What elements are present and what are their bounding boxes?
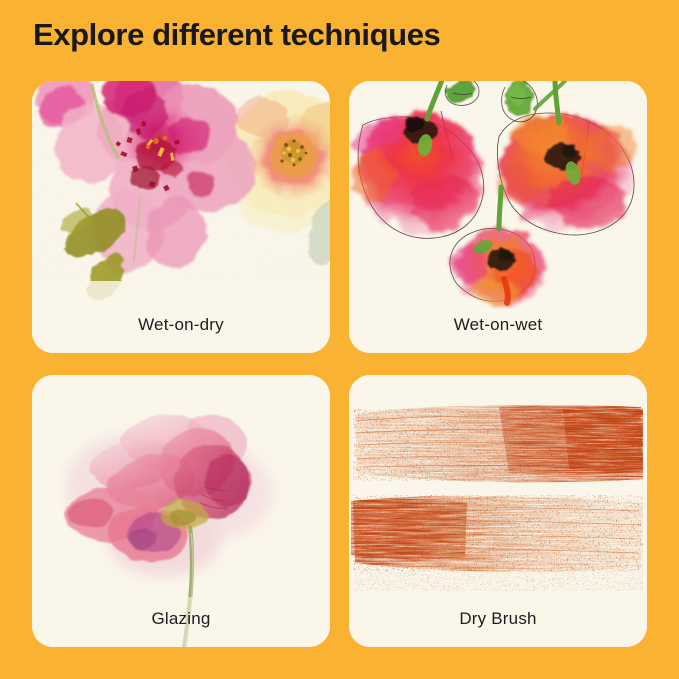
technique-label-glazing: Glazing (32, 609, 330, 629)
technique-label-dry-brush: Dry Brush (349, 609, 647, 629)
technique-label-wet-on-dry: Wet-on-dry (32, 315, 330, 335)
techniques-page: Explore different techniques (0, 0, 679, 679)
technique-card-dry-brush[interactable]: Dry Brush (349, 375, 647, 647)
technique-card-wet-on-dry[interactable]: Wet-on-dry (32, 81, 330, 353)
glazing-artwork (32, 375, 330, 647)
technique-card-glazing[interactable]: Glazing (32, 375, 330, 647)
page-title: Explore different techniques (33, 17, 440, 53)
dry-brush-artwork (349, 375, 647, 647)
wet-on-dry-artwork (32, 81, 330, 353)
technique-card-grid: Wet-on-dry (32, 81, 647, 647)
technique-label-wet-on-wet: Wet-on-wet (349, 315, 647, 335)
wet-on-wet-artwork (349, 81, 647, 353)
technique-card-wet-on-wet[interactable]: Wet-on-wet (349, 81, 647, 353)
